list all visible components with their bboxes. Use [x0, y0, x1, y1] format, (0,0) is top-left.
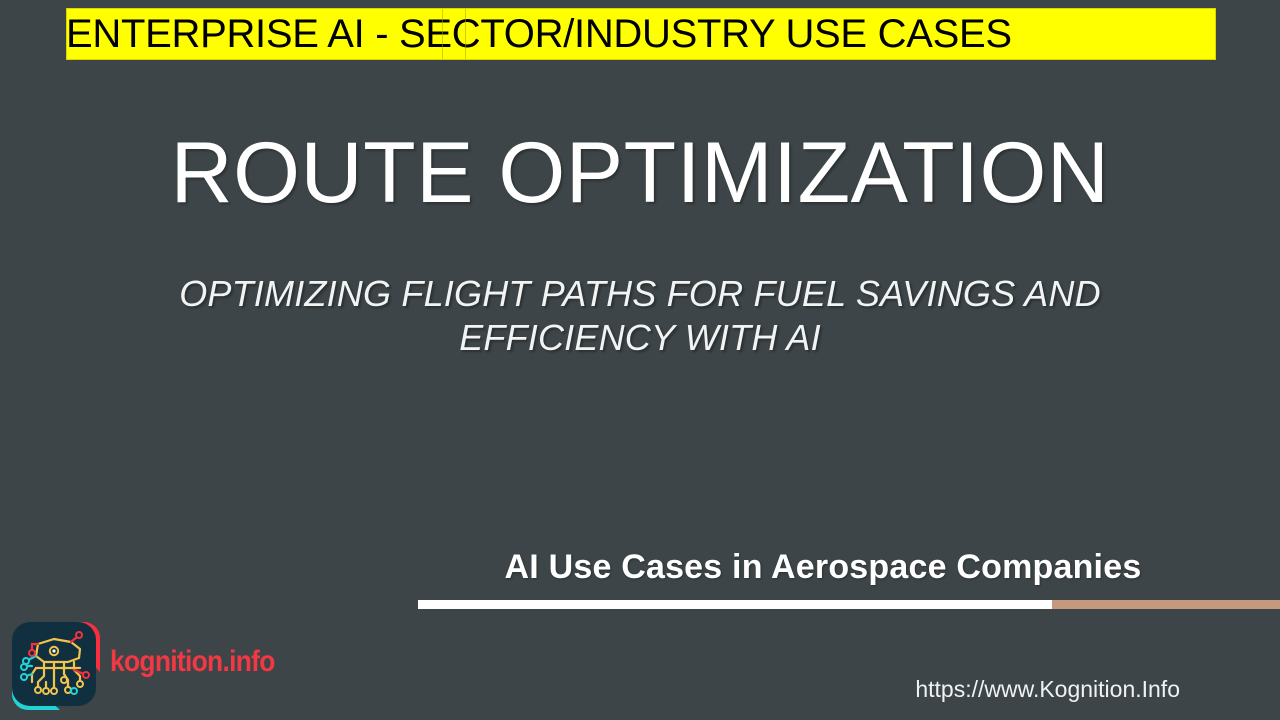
circuit-brain-logo-icon	[8, 618, 104, 714]
banner-title-text: ENTERPRISE AI - SECTOR/INDUSTRY USE CASE…	[66, 14, 1012, 54]
page-title: ROUTE OPTIMIZATION	[0, 128, 1280, 218]
brand-wordmark: kognition.info	[110, 645, 275, 679]
banner-divider-right	[465, 9, 466, 59]
banner-divider-left	[442, 9, 443, 59]
site-url-text: https://www.Kognition.Info	[915, 676, 1180, 703]
divider-rule-white	[418, 600, 1052, 609]
slide-canvas: ENTERPRISE AI - SECTOR/INDUSTRY USE CASE…	[0, 0, 1280, 720]
section-banner: ENTERPRISE AI - SECTOR/INDUSTRY USE CASE…	[66, 8, 1216, 60]
page-subtitle: OPTIMIZING FLIGHT PATHS FOR FUEL SAVINGS…	[90, 272, 1190, 360]
series-heading: AI Use Cases in Aerospace Companies	[418, 548, 1228, 587]
divider-rule-tan	[1052, 600, 1280, 609]
